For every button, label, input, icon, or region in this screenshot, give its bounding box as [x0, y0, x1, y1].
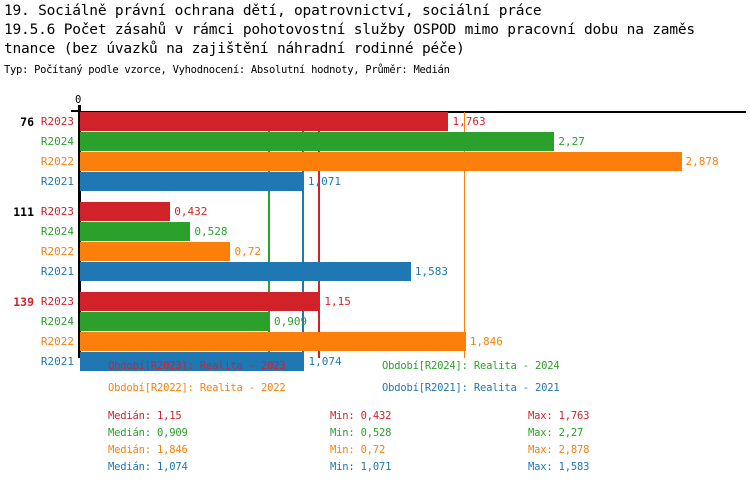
bar-row: 139R20231,15 [0, 292, 750, 312]
bar-value-label: 0,432 [174, 205, 207, 218]
bar-value-label: 0,909 [274, 315, 307, 328]
series-label-r2024[interactable]: R2024 [38, 315, 74, 328]
stat-min-r2024: Min: 0,528 [330, 427, 391, 439]
axis-tick-label-0: 0 [75, 95, 81, 106]
legend-item-r2023[interactable]: Období[R2023]: Realita - 2023 [108, 360, 286, 372]
bar-value-label: 0,72 [234, 245, 261, 258]
bar-r2023[interactable] [80, 202, 170, 221]
chart-subtitle: Typ: Počítaný podle vzorce, Vyhodnocení:… [4, 64, 450, 77]
bar-r2024[interactable] [80, 222, 190, 241]
stat-min-r2022: Min: 0,72 [330, 444, 385, 456]
page-title: 19. Sociálně právní ochrana dětí, opatro… [4, 2, 746, 59]
bar-r2021[interactable] [80, 172, 304, 191]
group-label-111: 111 [0, 205, 34, 219]
bar-chart: 0 76R20231,763R20242,27R20222,878R20211,… [0, 95, 750, 355]
stat-median-r2024: Medián: 0,909 [108, 427, 188, 439]
group-label-139: 139 [0, 295, 34, 309]
bar-row: R20221,846 [0, 332, 750, 352]
legend-item-r2022[interactable]: Období[R2022]: Realita - 2022 [108, 382, 286, 394]
bar-row: R20211,071 [0, 172, 750, 192]
bar-row: 111R20230,432 [0, 202, 750, 222]
bar-r2022[interactable] [80, 242, 230, 261]
series-label-r2021[interactable]: R2021 [38, 265, 74, 278]
title-line-3: tnance (bez úvazků na zajištění náhradní… [4, 40, 746, 59]
bar-r2024[interactable] [80, 132, 554, 151]
series-label-r2023[interactable]: R2023 [38, 295, 74, 308]
series-label-r2022[interactable]: R2022 [38, 155, 74, 168]
legend-item-r2024[interactable]: Období[R2024]: Realita - 2024 [382, 360, 560, 372]
bar-value-label: 1,846 [470, 335, 503, 348]
bar-row: R20240,909 [0, 312, 750, 332]
series-label-r2021[interactable]: R2021 [38, 175, 74, 188]
stat-max-r2023: Max: 1,763 [528, 410, 589, 422]
bar-value-label: 1,074 [308, 355, 341, 368]
bar-value-label: 1,071 [308, 175, 341, 188]
title-line-2: 19.5.6 Počet zásahů v rámci pohotovostní… [4, 21, 746, 40]
bar-row: R20211,583 [0, 262, 750, 282]
bar-r2023[interactable] [80, 292, 320, 311]
bar-r2023[interactable] [80, 112, 448, 131]
series-label-r2023[interactable]: R2023 [38, 115, 74, 128]
stat-max-r2022: Max: 2,878 [528, 444, 589, 456]
stat-median-r2022: Medián: 1,846 [108, 444, 188, 456]
series-label-r2024[interactable]: R2024 [38, 135, 74, 148]
bar-r2021[interactable] [80, 262, 411, 281]
bar-row: 76R20231,763 [0, 112, 750, 132]
bar-row: R20242,27 [0, 132, 750, 152]
stat-max-r2024: Max: 2,27 [528, 427, 583, 439]
bar-value-label: 1,763 [452, 115, 485, 128]
series-label-r2022[interactable]: R2022 [38, 335, 74, 348]
bar-value-label: 0,528 [194, 225, 227, 238]
bar-r2022[interactable] [80, 332, 466, 351]
series-label-r2024[interactable]: R2024 [38, 225, 74, 238]
series-label-r2023[interactable]: R2023 [38, 205, 74, 218]
stat-max-r2021: Max: 1,583 [528, 461, 589, 473]
group-label-76: 76 [0, 115, 34, 129]
bar-value-label: 2,878 [686, 155, 719, 168]
bar-row: R20240,528 [0, 222, 750, 242]
bar-value-label: 1,15 [324, 295, 351, 308]
stat-min-r2023: Min: 0,432 [330, 410, 391, 422]
stat-median-r2021: Medián: 1,074 [108, 461, 188, 473]
series-label-r2021[interactable]: R2021 [38, 355, 74, 368]
bar-row: R20220,72 [0, 242, 750, 262]
bar-value-label: 1,583 [415, 265, 448, 278]
stat-median-r2023: Medián: 1,15 [108, 410, 181, 422]
bar-value-label: 2,27 [558, 135, 585, 148]
bar-row: R20222,878 [0, 152, 750, 172]
bar-r2022[interactable] [80, 152, 682, 171]
bar-r2024[interactable] [80, 312, 270, 331]
stat-min-r2021: Min: 1,071 [330, 461, 391, 473]
series-label-r2022[interactable]: R2022 [38, 245, 74, 258]
title-line-1: 19. Sociálně právní ochrana dětí, opatro… [4, 2, 746, 21]
legend-item-r2021[interactable]: Období[R2021]: Realita - 2021 [382, 382, 560, 394]
